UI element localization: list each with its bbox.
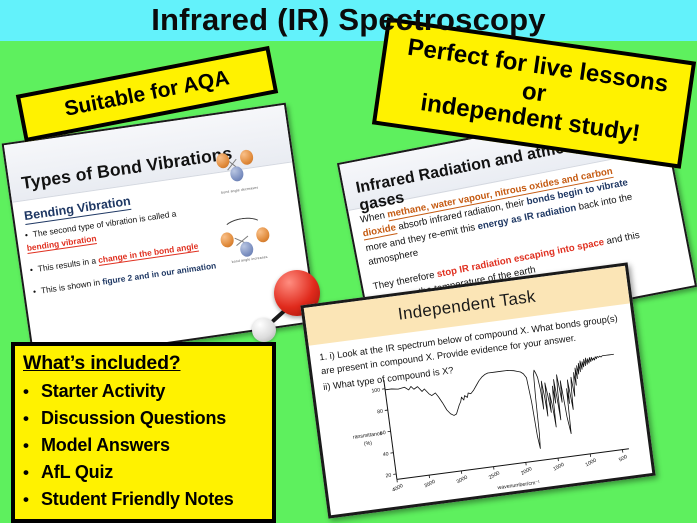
atom-sphere-blue — [239, 241, 254, 258]
slide1-bullet3-text-a: This is shown in — [40, 277, 103, 296]
whats-included-box: What’s included? •Starter Activity•Discu… — [11, 342, 276, 523]
slide3-title: Independent Task — [397, 287, 537, 325]
x-tick-label: 3000 — [456, 475, 469, 486]
x-tick-label: 1500 — [552, 462, 565, 473]
x-axis-label: wavenumber/cm⁻¹ — [497, 480, 540, 492]
y-tick-label: 40 — [382, 451, 389, 458]
slide1-bullet2-highlight: change in the bond angle — [98, 241, 200, 266]
atom-sphere-orange — [255, 226, 270, 243]
bond-vibration-diagram-1: bond angle decreases — [203, 144, 271, 200]
list-item-label: Student Friendly Notes — [41, 486, 234, 512]
bullet-glyph: • — [23, 461, 41, 486]
list-item: •Model Answers — [23, 432, 264, 459]
bullet-glyph: • — [23, 434, 41, 459]
list-item-label: AfL Quiz — [41, 459, 113, 485]
x-tick-label: 500 — [618, 454, 629, 463]
list-item-label: Starter Activity — [41, 378, 165, 404]
atom-sphere-blue — [229, 166, 244, 183]
y-tick-label: 80 — [377, 409, 384, 416]
list-item: •Starter Activity — [23, 378, 264, 405]
x-tick-label: 2000 — [520, 466, 533, 477]
whats-included-title: What’s included? — [23, 352, 264, 375]
list-item-label: Discussion Questions — [41, 405, 226, 431]
y-axis-label-line2: (%) — [364, 440, 373, 447]
list-item: •AfL Quiz — [23, 459, 264, 486]
slide1-bullet2-text-a: This results in a — [37, 255, 99, 274]
slide1-bullet3-highlight: figure 2 and in our animation — [102, 260, 217, 286]
list-item: •Discussion Questions — [23, 405, 264, 432]
y-tick-label: 20 — [385, 473, 392, 480]
slide-canvas: Infrared (IR) Spectroscopy Types of Bond… — [0, 0, 697, 523]
spectrum-trace-line — [384, 354, 624, 467]
hydrogen-atom-sphere — [252, 318, 276, 342]
list-item-label: Model Answers — [41, 432, 170, 458]
slide-independent-task[interactable]: Independent Task 1. i) Look at the IR sp… — [300, 262, 655, 518]
molecule-figure-1 — [203, 144, 270, 190]
list-item: •Student Friendly Notes — [23, 486, 264, 513]
x-tick-label: 3500 — [423, 479, 436, 490]
atom-sphere-orange — [239, 149, 254, 166]
bullet-glyph: • — [23, 380, 41, 405]
whats-included-list: •Starter Activity•Discussion Questions•M… — [23, 378, 264, 513]
x-tick-label: 2500 — [488, 470, 501, 481]
page-title: Infrared (IR) Spectroscopy — [0, 0, 697, 42]
y-tick-label: 100 — [371, 387, 380, 394]
x-tick-label: 1000 — [585, 458, 598, 469]
bullet-glyph: • — [23, 488, 41, 513]
bullet-glyph: • — [23, 407, 41, 432]
x-tick-label: 4000 — [391, 483, 404, 494]
y-axis-label-line1: transmittance — [351, 431, 383, 441]
